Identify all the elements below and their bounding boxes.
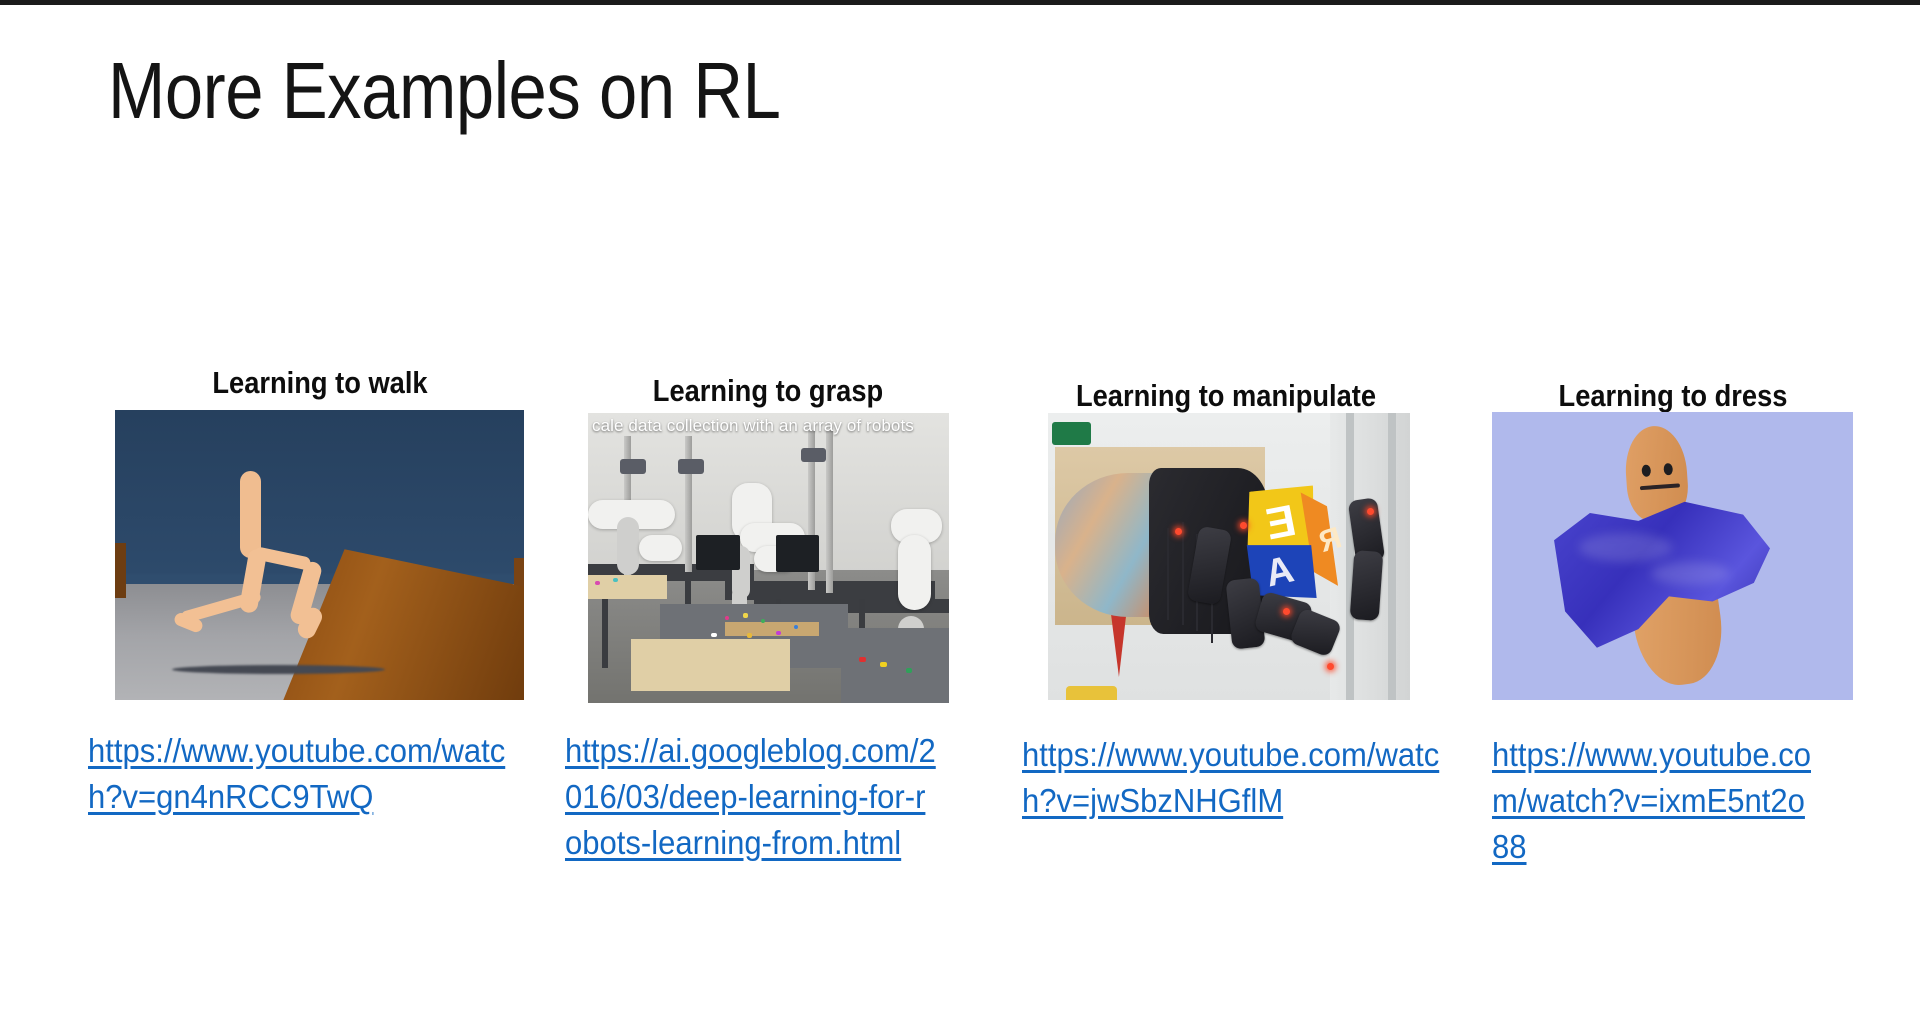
object-bit bbox=[794, 625, 798, 629]
object-bit bbox=[711, 633, 717, 637]
finger-led bbox=[1240, 522, 1247, 529]
tendon-cable bbox=[1182, 522, 1184, 625]
robot-finger bbox=[1350, 550, 1384, 621]
image-robot-arm-farm[interactable]: cale data collection with an array of ro… bbox=[588, 413, 949, 703]
link-learning-to-manipulate[interactable]: https://www.youtube.com/watch?v=jwSbzNHG… bbox=[1022, 732, 1454, 824]
link-learning-to-dress[interactable]: https://www.youtube.com/watch?v=ixmE5nt2… bbox=[1492, 732, 1821, 870]
wood-edge bbox=[725, 622, 819, 637]
finger-led bbox=[1367, 508, 1374, 515]
object-bit bbox=[743, 613, 748, 618]
camera-mast bbox=[826, 430, 833, 592]
caption-learning-to-walk: Learning to walk bbox=[140, 365, 501, 401]
wood-panel bbox=[588, 575, 667, 598]
slide-canvas: More Examples on RL Learning to walk htt… bbox=[0, 0, 1920, 1022]
finger-led bbox=[1327, 663, 1334, 670]
object-bit bbox=[747, 633, 752, 638]
robot-arm-joint bbox=[617, 517, 639, 575]
robot-arm-base bbox=[639, 535, 682, 561]
page-title: More Examples on RL bbox=[108, 48, 1398, 134]
object-bit bbox=[776, 631, 781, 635]
walker-post-left bbox=[115, 543, 126, 598]
character-eye-right bbox=[1663, 463, 1673, 476]
camera-head bbox=[620, 459, 645, 474]
top-edge-bar bbox=[0, 0, 1920, 5]
link-learning-to-grasp[interactable]: https://ai.googleblog.com/2016/03/deep-l… bbox=[565, 728, 941, 866]
object-bit bbox=[859, 657, 866, 662]
object-bit bbox=[906, 668, 912, 673]
image-dexterous-hand[interactable]: E A R bbox=[1048, 413, 1410, 700]
image-humanoid-walker[interactable] bbox=[115, 410, 524, 700]
walker-torso bbox=[240, 471, 261, 558]
caption-learning-to-manipulate: Learning to manipulate bbox=[1045, 378, 1408, 414]
green-marker bbox=[1052, 422, 1092, 445]
camera-head bbox=[678, 459, 703, 474]
link-learning-to-walk[interactable]: https://www.youtube.com/watch?v=gn4nRCC9… bbox=[88, 728, 520, 820]
lab-monitor bbox=[776, 535, 819, 573]
video-overlay-caption: cale data collection with an array of ro… bbox=[588, 413, 949, 439]
camera-mast bbox=[685, 436, 692, 572]
garment-fold bbox=[1651, 562, 1730, 585]
work-surface bbox=[841, 628, 949, 703]
character-mouth bbox=[1640, 484, 1680, 491]
caption-learning-to-grasp: Learning to grasp bbox=[610, 373, 927, 409]
image-character-dressing[interactable] bbox=[1492, 412, 1853, 700]
wood-panel bbox=[631, 639, 790, 691]
tendon-cable bbox=[1167, 528, 1169, 620]
caption-learning-to-dress: Learning to dress bbox=[1514, 378, 1833, 414]
yellow-marker bbox=[1066, 686, 1117, 700]
walker-shadow bbox=[172, 665, 385, 674]
garment-fold bbox=[1579, 533, 1673, 562]
camera-head bbox=[801, 448, 826, 463]
character-eye-left bbox=[1641, 465, 1651, 478]
finger-led bbox=[1175, 528, 1182, 535]
robot-arm bbox=[898, 535, 930, 610]
lab-monitor bbox=[696, 535, 739, 570]
